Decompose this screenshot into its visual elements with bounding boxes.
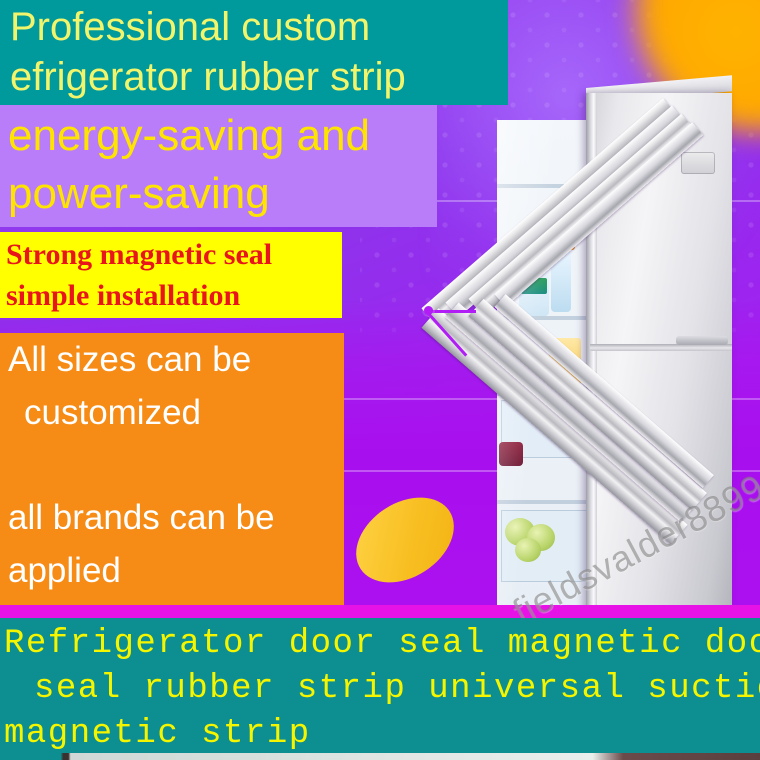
fridge-door-divider <box>590 344 732 351</box>
violet-line-2: power-saving <box>0 165 437 223</box>
banner-line-2: seal rubber strip universal suction <box>0 667 760 712</box>
violet-line-1: energy-saving and <box>0 105 437 165</box>
fridge-shelf <box>497 500 593 504</box>
banner-line-1: Refrigerator door seal magnetic door <box>0 618 760 667</box>
orange-line-4: applied <box>0 544 344 597</box>
yellow-line-2: simple installation <box>0 275 342 316</box>
yellow-line-1: Strong magnetic seal <box>0 232 342 275</box>
headline-line-1: Professional custom <box>0 0 508 52</box>
orange-line-2: customized <box>0 386 344 439</box>
callout-line <box>428 310 476 313</box>
magenta-divider-band <box>0 605 760 618</box>
promo-image-canvas: Professional custom efrigerator rubber s… <box>0 0 760 760</box>
headline-teal-box: Professional custom efrigerator rubber s… <box>0 0 508 105</box>
description-banner: Refrigerator door seal magnetic door sea… <box>0 618 760 753</box>
food-item-red <box>499 442 523 466</box>
headline-violet-box: energy-saving and power-saving <box>0 105 437 227</box>
fridge-brand-badge <box>681 152 715 174</box>
feature-orange-box: All sizes can be customized all brands c… <box>0 333 344 605</box>
footer-edge-strip <box>0 753 760 760</box>
orange-line-1: All sizes can be <box>0 333 344 386</box>
orange-line-3: all brands can be <box>0 491 344 544</box>
fridge-door-handle <box>676 336 728 345</box>
green-apple <box>515 538 541 562</box>
headline-line-2: efrigerator rubber strip <box>0 52 508 102</box>
orange-spacer <box>0 439 344 491</box>
banner-line-3: magnetic strip <box>0 712 760 757</box>
feature-yellow-box: Strong magnetic seal simple installation <box>0 232 342 318</box>
